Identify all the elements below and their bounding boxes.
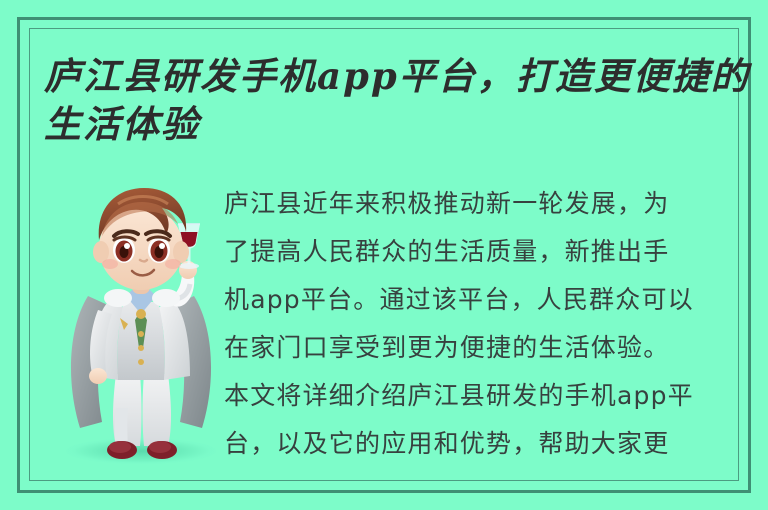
article-body-line: 了提高人民群众的生活质量，新推出手 [224,228,736,276]
article-body-line: 机app平台。通过该平台，人民群众可以 [224,276,736,324]
article-body: 庐江县近年来积极推动新一轮发展，为 了提高人民群众的生活质量，新推出手 机app… [224,180,736,468]
page-title: 庐江县研发手机app平台，打造更便捷的 生活体验 [44,52,744,148]
article-body-line: 本文将详细介绍庐江县研发的手机app平 [224,372,736,420]
article-body-line: 台，以及它的应用和优势，帮助大家更 [224,420,736,468]
chibi-businessman-icon [58,178,223,470]
article-poster: 庐江县研发手机app平台，打造更便捷的 生活体验 [0,0,768,510]
article-body-line: 庐江县近年来积极推动新一轮发展，为 [224,180,736,228]
page-title-line-2: 生活体验 [44,100,744,148]
character-illustration [58,178,223,470]
article-body-line: 在家门口享受到更为便捷的生活体验。 [224,324,736,372]
page-title-line-1: 庐江县研发手机app平台，打造更便捷的 [44,52,744,100]
